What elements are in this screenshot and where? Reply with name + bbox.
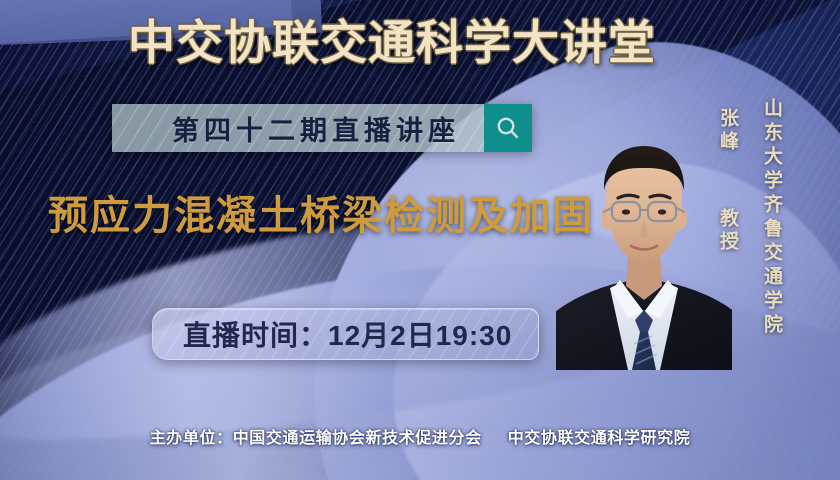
episode-label: 第四十二期直播讲座 — [130, 109, 466, 148]
episode-bar: 第四十二期直播讲座 — [112, 104, 532, 152]
footer-organizers: 主办单位：中国交通运输协会新技术促进分会 中交协联交通科学研究院 — [0, 424, 840, 448]
search-icon[interactable] — [484, 104, 532, 152]
speaker-title: 教授 — [716, 208, 738, 254]
lecture-poster: 中交协联交通科学大讲堂 第四十二期直播讲座 预应力混凝土桥梁检测及加固 直播时间… — [0, 0, 840, 480]
footer-co-organizer: 中交协联交通科学研究院 — [508, 424, 691, 448]
episode-bar-fill: 第四十二期直播讲座 — [112, 104, 484, 152]
page-title: 中交协联交通科学大讲堂 — [128, 16, 698, 72]
speaker-name: 张峰 — [716, 108, 738, 154]
broadcast-time-label: 直播时间：12月2日19:30 — [183, 314, 512, 354]
broadcast-time-badge: 直播时间：12月2日19:30 — [152, 308, 539, 360]
speaker-portrait — [556, 118, 732, 370]
lecture-topic-title: 预应力混凝土桥梁检测及加固 — [48, 190, 594, 242]
speaker-organization: 山东大学齐鲁交通学院 — [760, 98, 782, 338]
footer-organizer: 主办单位：中国交通运输协会新技术促进分会 — [150, 424, 482, 448]
